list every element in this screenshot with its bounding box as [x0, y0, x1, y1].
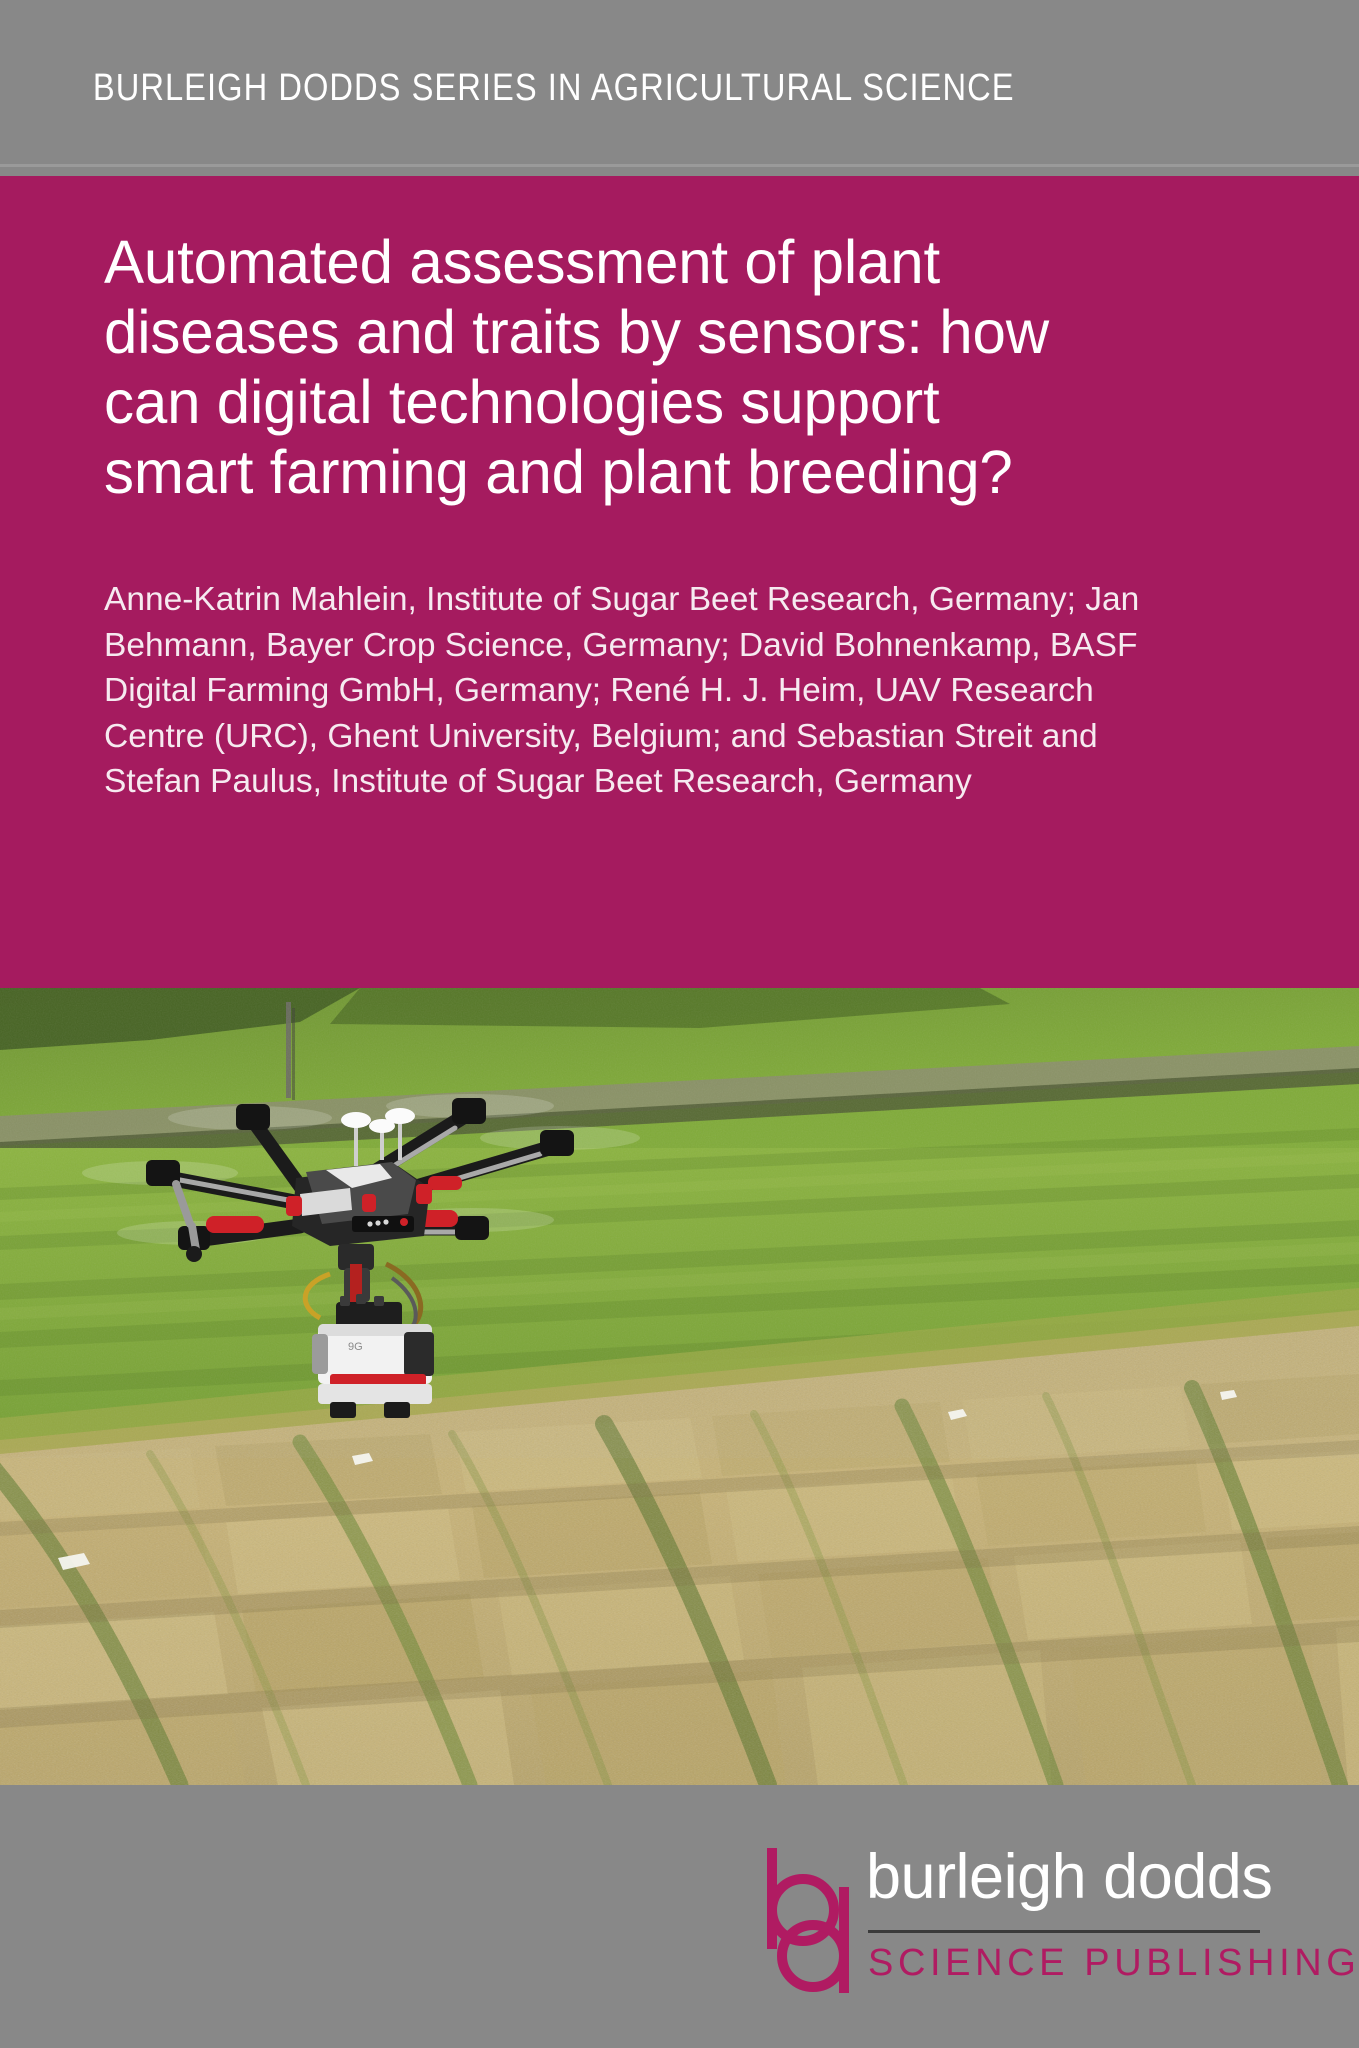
author-line: Centre (URC), Ghent University, Belgium;… — [104, 714, 1259, 759]
title-line: diseases and traits by sensors: how — [104, 298, 1242, 368]
series-title: BURLEIGH DODDS SERIES IN AGRICULTURAL SC… — [0, 67, 1015, 110]
author-line: Behmann, Bayer Crop Science, Germany; Da… — [104, 623, 1259, 668]
drone-over-field-plots-image: 9G — [0, 988, 1359, 1785]
title-line: Automated assessment of plant — [104, 228, 1242, 298]
series-header-band: BURLEIGH DODDS SERIES IN AGRICULTURAL SC… — [0, 0, 1359, 176]
publisher-tagline: SCIENCE PUBLISHING — [868, 1942, 1359, 1985]
logo-divider — [868, 1930, 1260, 1933]
publisher-wordmark: burleigh dodds SCIENCE PUBLISHING — [866, 1848, 1262, 1993]
title-line: smart farming and plant breeding? — [104, 438, 1242, 508]
book-cover: BURLEIGH DODDS SERIES IN AGRICULTURAL SC… — [0, 0, 1359, 2048]
author-line: Stefan Paulus, Institute of Sugar Beet R… — [104, 759, 1259, 804]
svg-text:9G: 9G — [348, 1341, 363, 1353]
author-line: Anne-Katrin Mahlein, Institute of Sugar … — [104, 577, 1259, 622]
header-divider — [0, 164, 1359, 167]
publisher-name: burleigh dodds — [866, 1846, 1272, 1909]
bd-monogram-icon — [762, 1848, 854, 1993]
author-line: Digital Farming GmbH, Germany; René H. J… — [104, 668, 1259, 713]
publisher-logo: burleigh dodds SCIENCE PUBLISHING — [762, 1848, 1262, 1993]
author-list: Anne-Katrin Mahlein, Institute of Sugar … — [104, 507, 1259, 804]
page-title: Automated assessment of plant diseases a… — [104, 228, 1242, 507]
cover-photograph: 9G — [0, 988, 1359, 1785]
title-panel: Automated assessment of plant diseases a… — [0, 176, 1359, 988]
title-line: can digital technologies support — [104, 368, 1242, 438]
